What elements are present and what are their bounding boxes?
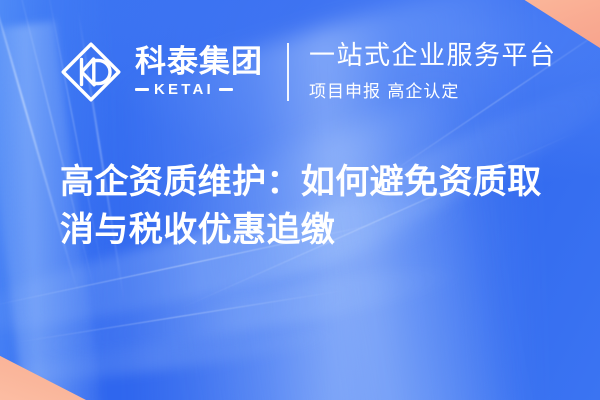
brand-wordmark: 科泰集团 KETAI [135, 46, 263, 99]
dash-left-icon [135, 88, 149, 91]
brand-header: 科泰集团 KETAI 一站式企业服务平台 项目申报 高企认定 [60, 41, 557, 103]
tagline-group: 一站式企业服务平台 项目申报 高企认定 [309, 42, 557, 102]
ketai-diamond-logo-icon [60, 41, 122, 103]
headline-title: 高企资质维护：如何避免资质取消与税收优惠追缴 [60, 158, 558, 255]
tagline-primary: 一站式企业服务平台 [309, 42, 557, 72]
brand-name-en: KETAI [154, 81, 214, 98]
promo-banner: 科泰集团 KETAI 一站式企业服务平台 项目申报 高企认定 高企资质维护：如何… [0, 0, 600, 400]
tagline-secondary: 项目申报 高企认定 [309, 77, 557, 102]
brand-name-cn: 科泰集团 [135, 46, 263, 79]
dash-right-icon [219, 88, 233, 91]
header-divider [287, 43, 289, 101]
brand-name-en-row: KETAI [135, 81, 263, 98]
